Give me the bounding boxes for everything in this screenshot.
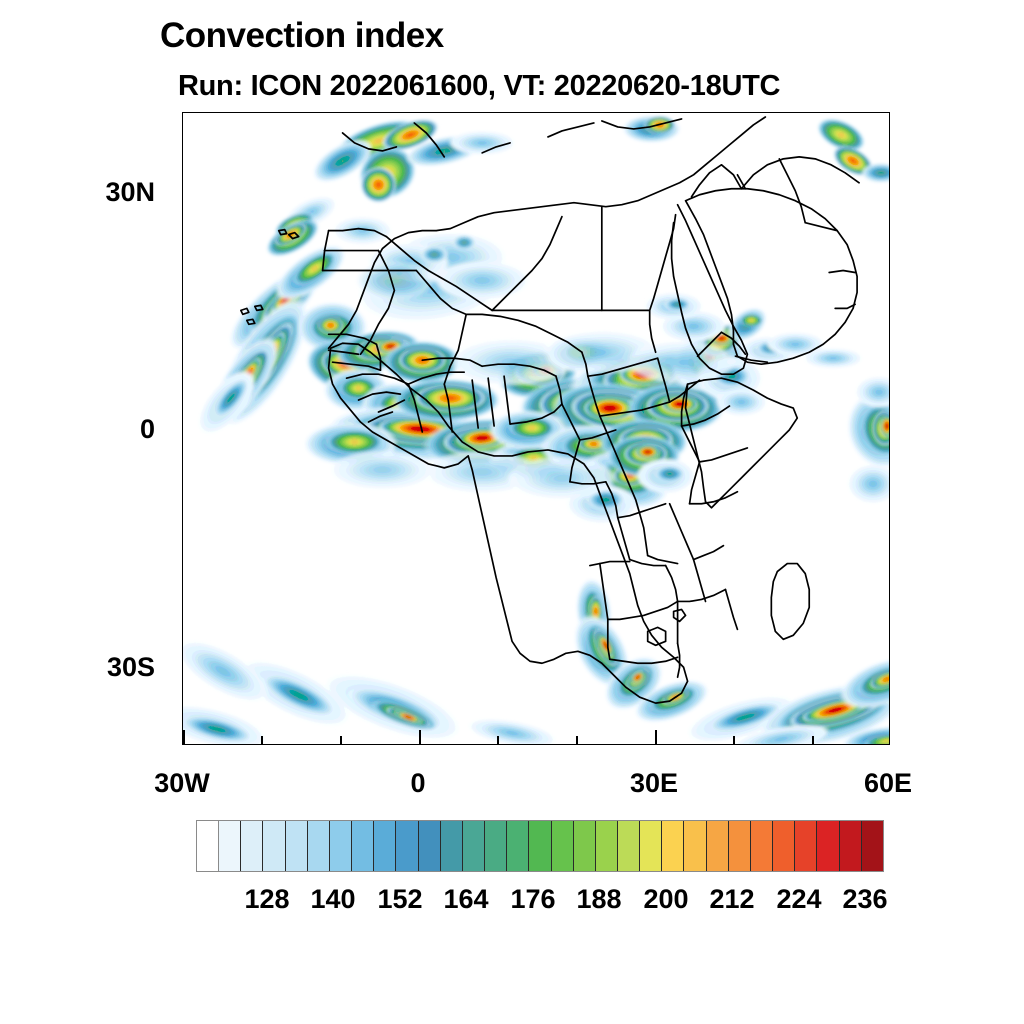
xtick-10W: [340, 736, 342, 745]
ytick-30N: [182, 192, 183, 194]
ytick-10N: [182, 350, 183, 352]
xtick-label-60E: 60E: [818, 768, 958, 799]
colorbar-cell-28: [817, 821, 839, 871]
colorbar-label-236: 236: [805, 884, 925, 915]
ytick-0: [182, 429, 183, 431]
colorbar-cell-27: [795, 821, 817, 871]
colorbar-cell-29: [840, 821, 862, 871]
colorbar-cell-7: [352, 821, 374, 871]
page-title: Convection index: [160, 16, 444, 56]
colorbar-cell-30: [862, 821, 883, 871]
colorbar-cell-19: [618, 821, 640, 871]
convection-index-figure: Convection index Run: ICON 2022061600, V…: [0, 0, 1024, 1024]
map-plot-area: [182, 112, 890, 745]
colorbar-cell-22: [684, 821, 706, 871]
colorbar-cell-15: [529, 821, 551, 871]
colorbar-cell-14: [507, 821, 529, 871]
colorbar-cell-24: [729, 821, 751, 871]
coastline-and-border-overlay: [183, 113, 889, 744]
colorbar-cell-10: [419, 821, 441, 871]
xtick-50E: [812, 736, 814, 745]
ytick-20S: [182, 588, 183, 590]
ytick-10S: [182, 509, 183, 511]
colorbar-cell-4: [286, 821, 308, 871]
colorbar-cell-12: [463, 821, 485, 871]
colorbar-cell-3: [263, 821, 285, 871]
colorbar-cell-9: [396, 821, 418, 871]
xtick-0: [419, 730, 421, 745]
xtick-10E: [497, 736, 499, 745]
colorbar-cell-23: [707, 821, 729, 871]
xtick-20E: [576, 736, 578, 745]
colorbar-cell-11: [441, 821, 463, 871]
colorbar-cell-8: [374, 821, 396, 871]
colorbar-cell-21: [662, 821, 684, 871]
xtick-20W: [261, 736, 263, 745]
colorbar-cell-1: [219, 821, 241, 871]
colorbar-cell-26: [773, 821, 795, 871]
colorbar-cell-18: [596, 821, 618, 871]
colorbar-cell-13: [485, 821, 507, 871]
xtick-30W: [183, 730, 185, 745]
ytick-label-0: 0: [35, 414, 155, 445]
run-valid-time-subtitle: Run: ICON 2022061600, VT: 20220620-18UTC: [178, 70, 780, 103]
xtick-label-30E: 30E: [584, 768, 724, 799]
colorbar-cell-17: [574, 821, 596, 871]
ytick-label-30S: 30S: [35, 652, 155, 683]
colorbar-cell-5: [308, 821, 330, 871]
ytick-30S: [182, 667, 183, 669]
colorbar-cell-20: [640, 821, 662, 871]
xtick-label-30W: 30W: [112, 768, 252, 799]
colorbar-cell-16: [552, 821, 574, 871]
xtick-label-0: 0: [348, 768, 488, 799]
colorbar-cell-0: [197, 821, 219, 871]
ytick-20N: [182, 271, 183, 273]
colorbar-cell-2: [241, 821, 263, 871]
xtick-40E: [733, 736, 735, 745]
colorbar-cell-25: [751, 821, 773, 871]
xtick-60E: [889, 730, 890, 745]
colorbar-cell-6: [330, 821, 352, 871]
xtick-30E: [655, 730, 657, 745]
colorbar: [196, 820, 884, 872]
ytick-label-30N: 30N: [35, 177, 155, 208]
